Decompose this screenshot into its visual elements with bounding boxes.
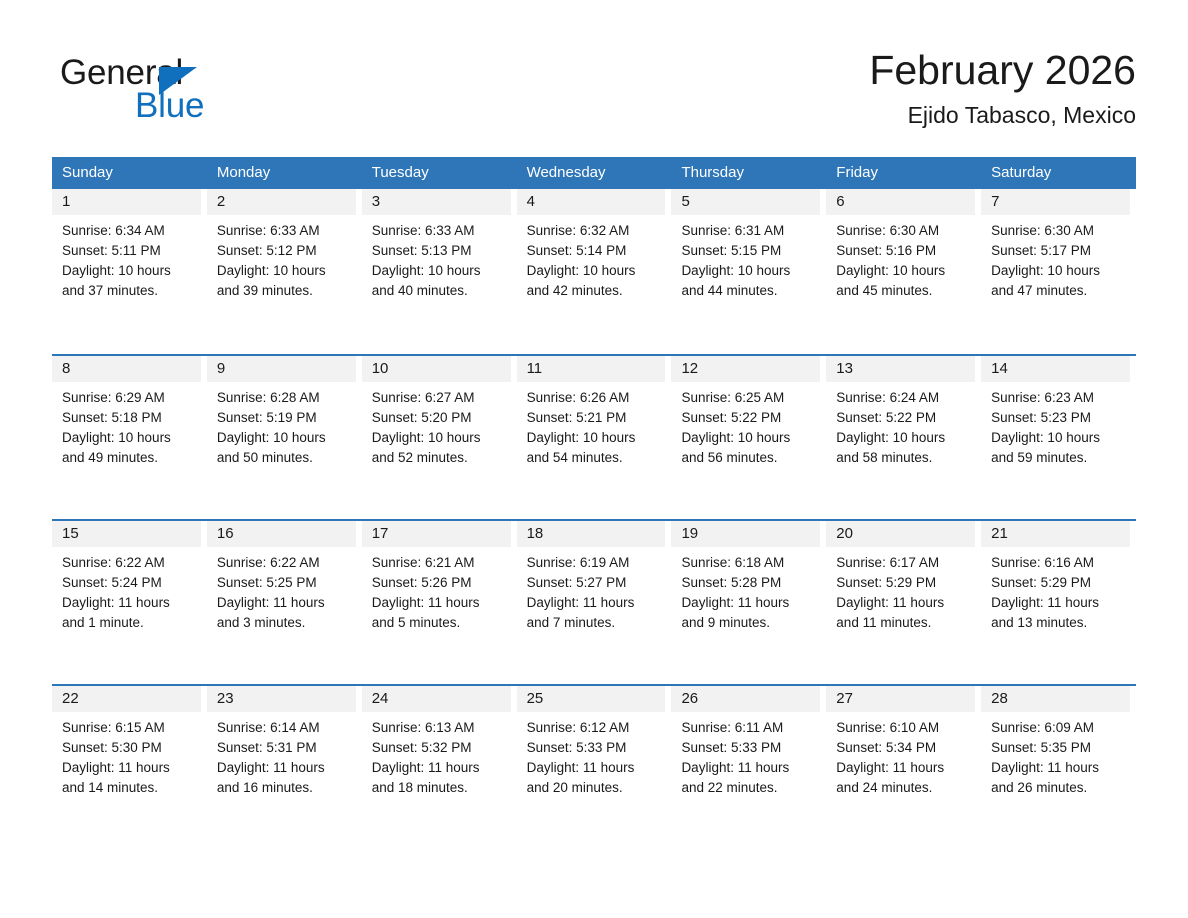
daylight-text-line2: and 49 minutes.	[62, 448, 197, 468]
sunrise-text: Sunrise: 6:33 AM	[372, 221, 507, 241]
sunrise-text: Sunrise: 6:09 AM	[991, 718, 1126, 738]
sunrise-text: Sunrise: 6:25 AM	[681, 388, 816, 408]
sunset-text: Sunset: 5:13 PM	[372, 241, 507, 261]
sunset-text: Sunset: 5:23 PM	[991, 408, 1126, 428]
day-number-band: 19	[671, 521, 820, 547]
day-number: 13	[836, 361, 853, 377]
calendar-page: General Blue February 2026 Ejido Tabasco…	[0, 0, 1188, 918]
day-number: 5	[681, 194, 689, 210]
sunrise-text: Sunrise: 6:30 AM	[991, 221, 1126, 241]
weekday-header-row: SundayMondayTuesdayWednesdayThursdayFrid…	[52, 157, 1136, 189]
sunset-text: Sunset: 5:32 PM	[372, 738, 507, 758]
daylight-text-line2: and 59 minutes.	[991, 448, 1126, 468]
day-number: 20	[836, 526, 853, 542]
daylight-text-line1: Daylight: 11 hours	[217, 758, 352, 778]
sunrise-text: Sunrise: 6:22 AM	[62, 553, 197, 573]
day-details: Sunrise: 6:12 AMSunset: 5:33 PMDaylight:…	[517, 712, 666, 798]
sunset-text: Sunset: 5:21 PM	[527, 408, 662, 428]
calendar-day-cell[interactable]: 7Sunrise: 6:30 AMSunset: 5:17 PMDaylight…	[981, 189, 1136, 354]
calendar-day-cell[interactable]: 25Sunrise: 6:12 AMSunset: 5:33 PMDayligh…	[517, 686, 672, 849]
day-number: 19	[681, 526, 698, 542]
sunrise-text: Sunrise: 6:28 AM	[217, 388, 352, 408]
calendar-day-cell[interactable]: 23Sunrise: 6:14 AMSunset: 5:31 PMDayligh…	[207, 686, 362, 849]
calendar-day-cell[interactable]: 11Sunrise: 6:26 AMSunset: 5:21 PMDayligh…	[517, 356, 672, 519]
day-number: 18	[527, 526, 544, 542]
day-number: 10	[372, 361, 389, 377]
sunset-text: Sunset: 5:22 PM	[836, 408, 971, 428]
daylight-text-line1: Daylight: 11 hours	[62, 758, 197, 778]
day-number: 11	[527, 361, 543, 377]
day-number-band: 24	[362, 686, 511, 712]
sunset-text: Sunset: 5:15 PM	[681, 241, 816, 261]
sunrise-text: Sunrise: 6:24 AM	[836, 388, 971, 408]
day-number-band: 7	[981, 189, 1130, 215]
sunrise-text: Sunrise: 6:19 AM	[527, 553, 662, 573]
daylight-text-line2: and 22 minutes.	[681, 778, 816, 798]
daylight-text-line2: and 54 minutes.	[527, 448, 662, 468]
daylight-text-line1: Daylight: 11 hours	[991, 593, 1126, 613]
sunset-text: Sunset: 5:12 PM	[217, 241, 352, 261]
sunset-text: Sunset: 5:29 PM	[991, 573, 1126, 593]
sunset-text: Sunset: 5:14 PM	[527, 241, 662, 261]
sunset-text: Sunset: 5:16 PM	[836, 241, 971, 261]
calendar-day-cell[interactable]: 6Sunrise: 6:30 AMSunset: 5:16 PMDaylight…	[826, 189, 981, 354]
sunset-text: Sunset: 5:18 PM	[62, 408, 197, 428]
day-number-band: 9	[207, 356, 356, 382]
daylight-text-line2: and 9 minutes.	[681, 613, 816, 633]
calendar-day-cell[interactable]: 19Sunrise: 6:18 AMSunset: 5:28 PMDayligh…	[671, 521, 826, 684]
sunrise-text: Sunrise: 6:27 AM	[372, 388, 507, 408]
day-number-band: 6	[826, 189, 975, 215]
daylight-text-line1: Daylight: 11 hours	[372, 758, 507, 778]
calendar-day-cell[interactable]: 17Sunrise: 6:21 AMSunset: 5:26 PMDayligh…	[362, 521, 517, 684]
calendar-day-cell[interactable]: 21Sunrise: 6:16 AMSunset: 5:29 PMDayligh…	[981, 521, 1136, 684]
daylight-text-line1: Daylight: 10 hours	[217, 261, 352, 281]
sunrise-text: Sunrise: 6:26 AM	[527, 388, 662, 408]
calendar-day-cell[interactable]: 20Sunrise: 6:17 AMSunset: 5:29 PMDayligh…	[826, 521, 981, 684]
calendar-day-cell[interactable]: 12Sunrise: 6:25 AMSunset: 5:22 PMDayligh…	[671, 356, 826, 519]
daylight-text-line1: Daylight: 10 hours	[217, 428, 352, 448]
day-number: 17	[372, 526, 389, 542]
sunset-text: Sunset: 5:24 PM	[62, 573, 197, 593]
day-details: Sunrise: 6:09 AMSunset: 5:35 PMDaylight:…	[981, 712, 1130, 798]
day-details: Sunrise: 6:13 AMSunset: 5:32 PMDaylight:…	[362, 712, 511, 798]
day-details: Sunrise: 6:21 AMSunset: 5:26 PMDaylight:…	[362, 547, 511, 633]
sunset-text: Sunset: 5:17 PM	[991, 241, 1126, 261]
day-details: Sunrise: 6:11 AMSunset: 5:33 PMDaylight:…	[671, 712, 820, 798]
daylight-text-line1: Daylight: 11 hours	[62, 593, 197, 613]
sunset-text: Sunset: 5:20 PM	[372, 408, 507, 428]
sunset-text: Sunset: 5:19 PM	[217, 408, 352, 428]
daylight-text-line2: and 39 minutes.	[217, 281, 352, 301]
daylight-text-line1: Daylight: 10 hours	[62, 428, 197, 448]
weekday-header-tuesday: Tuesday	[362, 157, 517, 189]
sunrise-text: Sunrise: 6:34 AM	[62, 221, 197, 241]
day-number-band: 2	[207, 189, 356, 215]
daylight-text-line1: Daylight: 10 hours	[836, 261, 971, 281]
daylight-text-line2: and 7 minutes.	[527, 613, 662, 633]
daylight-text-line2: and 24 minutes.	[836, 778, 971, 798]
day-number-band: 1	[52, 189, 201, 215]
generalblue-logo: General Blue	[60, 54, 340, 134]
page-subtitle: Ejido Tabasco, Mexico	[869, 100, 1136, 130]
daylight-text-line2: and 37 minutes.	[62, 281, 197, 301]
day-number-band: 3	[362, 189, 511, 215]
sunset-text: Sunset: 5:11 PM	[62, 241, 197, 261]
title-block: February 2026 Ejido Tabasco, Mexico	[869, 44, 1136, 130]
day-details: Sunrise: 6:16 AMSunset: 5:29 PMDaylight:…	[981, 547, 1130, 633]
day-details: Sunrise: 6:22 AMSunset: 5:24 PMDaylight:…	[52, 547, 201, 633]
calendar-day-cell[interactable]: 28Sunrise: 6:09 AMSunset: 5:35 PMDayligh…	[981, 686, 1136, 849]
calendar-day-cell[interactable]: 14Sunrise: 6:23 AMSunset: 5:23 PMDayligh…	[981, 356, 1136, 519]
daylight-text-line1: Daylight: 11 hours	[836, 758, 971, 778]
day-number-band: 26	[671, 686, 820, 712]
daylight-text-line1: Daylight: 11 hours	[991, 758, 1126, 778]
day-details: Sunrise: 6:27 AMSunset: 5:20 PMDaylight:…	[362, 382, 511, 468]
daylight-text-line1: Daylight: 10 hours	[991, 428, 1126, 448]
day-number-band: 4	[517, 189, 666, 215]
sunset-text: Sunset: 5:33 PM	[681, 738, 816, 758]
daylight-text-line2: and 44 minutes.	[681, 281, 816, 301]
day-number: 3	[372, 194, 380, 210]
day-details: Sunrise: 6:19 AMSunset: 5:27 PMDaylight:…	[517, 547, 666, 633]
day-number: 1	[62, 194, 70, 210]
daylight-text-line2: and 14 minutes.	[62, 778, 197, 798]
day-details: Sunrise: 6:17 AMSunset: 5:29 PMDaylight:…	[826, 547, 975, 633]
calendar-weeks: 1Sunrise: 6:34 AMSunset: 5:11 PMDaylight…	[52, 189, 1136, 849]
sunset-text: Sunset: 5:35 PM	[991, 738, 1126, 758]
day-number-band: 13	[826, 356, 975, 382]
weekday-header-saturday: Saturday	[981, 157, 1136, 189]
sunrise-text: Sunrise: 6:13 AM	[372, 718, 507, 738]
day-number: 15	[62, 526, 79, 542]
calendar-day-cell[interactable]: 5Sunrise: 6:31 AMSunset: 5:15 PMDaylight…	[671, 189, 826, 354]
daylight-text-line2: and 20 minutes.	[527, 778, 662, 798]
daylight-text-line1: Daylight: 11 hours	[527, 758, 662, 778]
page-header: General Blue February 2026 Ejido Tabasco…	[52, 44, 1136, 140]
sunrise-text: Sunrise: 6:11 AM	[681, 718, 816, 738]
day-details: Sunrise: 6:34 AMSunset: 5:11 PMDaylight:…	[52, 215, 201, 301]
calendar-day-cell[interactable]: 4Sunrise: 6:32 AMSunset: 5:14 PMDaylight…	[517, 189, 672, 354]
day-number: 7	[991, 194, 999, 210]
day-details: Sunrise: 6:28 AMSunset: 5:19 PMDaylight:…	[207, 382, 356, 468]
calendar-week-row: 1Sunrise: 6:34 AMSunset: 5:11 PMDaylight…	[52, 189, 1136, 354]
calendar-day-cell[interactable]: 3Sunrise: 6:33 AMSunset: 5:13 PMDaylight…	[362, 189, 517, 354]
daylight-text-line1: Daylight: 11 hours	[527, 593, 662, 613]
daylight-text-line1: Daylight: 10 hours	[62, 261, 197, 281]
day-number-band: 18	[517, 521, 666, 547]
day-number-band: 17	[362, 521, 511, 547]
day-number: 25	[527, 691, 544, 707]
sunrise-text: Sunrise: 6:33 AM	[217, 221, 352, 241]
weekday-header-wednesday: Wednesday	[517, 157, 672, 189]
day-details: Sunrise: 6:29 AMSunset: 5:18 PMDaylight:…	[52, 382, 201, 468]
daylight-text-line2: and 45 minutes.	[836, 281, 971, 301]
day-number-band: 5	[671, 189, 820, 215]
daylight-text-line1: Daylight: 10 hours	[681, 428, 816, 448]
daylight-text-line1: Daylight: 11 hours	[372, 593, 507, 613]
daylight-text-line1: Daylight: 10 hours	[372, 428, 507, 448]
day-number-band: 14	[981, 356, 1130, 382]
day-number: 24	[372, 691, 389, 707]
calendar-grid: SundayMondayTuesdayWednesdayThursdayFrid…	[52, 157, 1136, 849]
weekday-header-friday: Friday	[826, 157, 981, 189]
weekday-header-thursday: Thursday	[671, 157, 826, 189]
daylight-text-line2: and 47 minutes.	[991, 281, 1126, 301]
calendar-day-cell[interactable]: 1Sunrise: 6:34 AMSunset: 5:11 PMDaylight…	[52, 189, 207, 354]
sunrise-text: Sunrise: 6:32 AM	[527, 221, 662, 241]
sunrise-text: Sunrise: 6:17 AM	[836, 553, 971, 573]
calendar-day-cell[interactable]: 8Sunrise: 6:29 AMSunset: 5:18 PMDaylight…	[52, 356, 207, 519]
sunset-text: Sunset: 5:30 PM	[62, 738, 197, 758]
day-number: 26	[681, 691, 698, 707]
day-details: Sunrise: 6:25 AMSunset: 5:22 PMDaylight:…	[671, 382, 820, 468]
daylight-text-line1: Daylight: 10 hours	[836, 428, 971, 448]
daylight-text-line1: Daylight: 11 hours	[681, 758, 816, 778]
weekday-header-sunday: Sunday	[52, 157, 207, 189]
daylight-text-line1: Daylight: 11 hours	[836, 593, 971, 613]
calendar-day-cell[interactable]: 27Sunrise: 6:10 AMSunset: 5:34 PMDayligh…	[826, 686, 981, 849]
sunrise-text: Sunrise: 6:22 AM	[217, 553, 352, 573]
calendar-week-row: 8Sunrise: 6:29 AMSunset: 5:18 PMDaylight…	[52, 354, 1136, 519]
daylight-text-line2: and 13 minutes.	[991, 613, 1126, 633]
sunset-text: Sunset: 5:28 PM	[681, 573, 816, 593]
sunset-text: Sunset: 5:26 PM	[372, 573, 507, 593]
sunrise-text: Sunrise: 6:31 AM	[681, 221, 816, 241]
day-number: 2	[217, 194, 225, 210]
logo-text-blue: Blue	[135, 87, 204, 125]
day-number: 27	[836, 691, 853, 707]
day-number: 14	[991, 361, 1008, 377]
sunset-text: Sunset: 5:34 PM	[836, 738, 971, 758]
day-number-band: 16	[207, 521, 356, 547]
sunrise-text: Sunrise: 6:29 AM	[62, 388, 197, 408]
day-details: Sunrise: 6:30 AMSunset: 5:16 PMDaylight:…	[826, 215, 975, 301]
daylight-text-line1: Daylight: 10 hours	[527, 428, 662, 448]
calendar-day-cell[interactable]: 9Sunrise: 6:28 AMSunset: 5:19 PMDaylight…	[207, 356, 362, 519]
day-details: Sunrise: 6:33 AMSunset: 5:12 PMDaylight:…	[207, 215, 356, 301]
day-details: Sunrise: 6:30 AMSunset: 5:17 PMDaylight:…	[981, 215, 1130, 301]
sunset-text: Sunset: 5:33 PM	[527, 738, 662, 758]
calendar-day-cell[interactable]: 2Sunrise: 6:33 AMSunset: 5:12 PMDaylight…	[207, 189, 362, 354]
day-details: Sunrise: 6:26 AMSunset: 5:21 PMDaylight:…	[517, 382, 666, 468]
day-details: Sunrise: 6:33 AMSunset: 5:13 PMDaylight:…	[362, 215, 511, 301]
day-number: 23	[217, 691, 234, 707]
sunset-text: Sunset: 5:29 PM	[836, 573, 971, 593]
day-number-band: 22	[52, 686, 201, 712]
daylight-text-line1: Daylight: 10 hours	[372, 261, 507, 281]
daylight-text-line2: and 16 minutes.	[217, 778, 352, 798]
day-details: Sunrise: 6:22 AMSunset: 5:25 PMDaylight:…	[207, 547, 356, 633]
daylight-text-line2: and 3 minutes.	[217, 613, 352, 633]
daylight-text-line2: and 52 minutes.	[372, 448, 507, 468]
day-number: 9	[217, 361, 225, 377]
day-details: Sunrise: 6:23 AMSunset: 5:23 PMDaylight:…	[981, 382, 1130, 468]
day-details: Sunrise: 6:24 AMSunset: 5:22 PMDaylight:…	[826, 382, 975, 468]
day-number-band: 20	[826, 521, 975, 547]
sunrise-text: Sunrise: 6:23 AM	[991, 388, 1126, 408]
daylight-text-line2: and 58 minutes.	[836, 448, 971, 468]
daylight-text-line2: and 50 minutes.	[217, 448, 352, 468]
day-number: 16	[217, 526, 234, 542]
daylight-text-line2: and 26 minutes.	[991, 778, 1126, 798]
day-details: Sunrise: 6:14 AMSunset: 5:31 PMDaylight:…	[207, 712, 356, 798]
sunset-text: Sunset: 5:22 PM	[681, 408, 816, 428]
day-details: Sunrise: 6:10 AMSunset: 5:34 PMDaylight:…	[826, 712, 975, 798]
day-number: 8	[62, 361, 70, 377]
daylight-text-line1: Daylight: 11 hours	[681, 593, 816, 613]
day-number-band: 21	[981, 521, 1130, 547]
daylight-text-line2: and 1 minute.	[62, 613, 197, 633]
day-number-band: 11	[517, 356, 666, 382]
day-number-band: 12	[671, 356, 820, 382]
day-details: Sunrise: 6:32 AMSunset: 5:14 PMDaylight:…	[517, 215, 666, 301]
daylight-text-line2: and 42 minutes.	[527, 281, 662, 301]
sunset-text: Sunset: 5:31 PM	[217, 738, 352, 758]
sunrise-text: Sunrise: 6:30 AM	[836, 221, 971, 241]
day-number: 28	[991, 691, 1008, 707]
day-number-band: 10	[362, 356, 511, 382]
calendar-day-cell[interactable]: 13Sunrise: 6:24 AMSunset: 5:22 PMDayligh…	[826, 356, 981, 519]
daylight-text-line1: Daylight: 10 hours	[991, 261, 1126, 281]
calendar-day-cell[interactable]: 10Sunrise: 6:27 AMSunset: 5:20 PMDayligh…	[362, 356, 517, 519]
day-number-band: 25	[517, 686, 666, 712]
daylight-text-line1: Daylight: 10 hours	[681, 261, 816, 281]
calendar-day-cell[interactable]: 26Sunrise: 6:11 AMSunset: 5:33 PMDayligh…	[671, 686, 826, 849]
day-number-band: 27	[826, 686, 975, 712]
daylight-text-line1: Daylight: 11 hours	[217, 593, 352, 613]
day-number-band: 8	[52, 356, 201, 382]
daylight-text-line1: Daylight: 10 hours	[527, 261, 662, 281]
day-number-band: 23	[207, 686, 356, 712]
day-details: Sunrise: 6:15 AMSunset: 5:30 PMDaylight:…	[52, 712, 201, 798]
day-details: Sunrise: 6:31 AMSunset: 5:15 PMDaylight:…	[671, 215, 820, 301]
calendar-day-cell[interactable]: 16Sunrise: 6:22 AMSunset: 5:25 PMDayligh…	[207, 521, 362, 684]
sunrise-text: Sunrise: 6:12 AM	[527, 718, 662, 738]
sunrise-text: Sunrise: 6:10 AM	[836, 718, 971, 738]
weekday-header-monday: Monday	[207, 157, 362, 189]
page-title: February 2026	[869, 44, 1136, 96]
sunrise-text: Sunrise: 6:18 AM	[681, 553, 816, 573]
daylight-text-line2: and 5 minutes.	[372, 613, 507, 633]
day-number-band: 15	[52, 521, 201, 547]
day-number: 6	[836, 194, 844, 210]
calendar-day-cell[interactable]: 24Sunrise: 6:13 AMSunset: 5:32 PMDayligh…	[362, 686, 517, 849]
day-number: 21	[991, 526, 1008, 542]
sunrise-text: Sunrise: 6:21 AM	[372, 553, 507, 573]
day-details: Sunrise: 6:18 AMSunset: 5:28 PMDaylight:…	[671, 547, 820, 633]
calendar-day-cell[interactable]: 18Sunrise: 6:19 AMSunset: 5:27 PMDayligh…	[517, 521, 672, 684]
sunrise-text: Sunrise: 6:15 AM	[62, 718, 197, 738]
calendar-day-cell[interactable]: 22Sunrise: 6:15 AMSunset: 5:30 PMDayligh…	[52, 686, 207, 849]
calendar-day-cell[interactable]: 15Sunrise: 6:22 AMSunset: 5:24 PMDayligh…	[52, 521, 207, 684]
sunset-text: Sunset: 5:27 PM	[527, 573, 662, 593]
daylight-text-line2: and 56 minutes.	[681, 448, 816, 468]
day-number: 4	[527, 194, 535, 210]
calendar-week-row: 15Sunrise: 6:22 AMSunset: 5:24 PMDayligh…	[52, 519, 1136, 684]
daylight-text-line2: and 18 minutes.	[372, 778, 507, 798]
calendar-week-row: 22Sunrise: 6:15 AMSunset: 5:30 PMDayligh…	[52, 684, 1136, 849]
day-number-band: 28	[981, 686, 1130, 712]
daylight-text-line2: and 11 minutes.	[836, 613, 971, 633]
day-number: 12	[681, 361, 698, 377]
daylight-text-line2: and 40 minutes.	[372, 281, 507, 301]
sunrise-text: Sunrise: 6:14 AM	[217, 718, 352, 738]
sunset-text: Sunset: 5:25 PM	[217, 573, 352, 593]
day-number: 22	[62, 691, 79, 707]
sunrise-text: Sunrise: 6:16 AM	[991, 553, 1126, 573]
